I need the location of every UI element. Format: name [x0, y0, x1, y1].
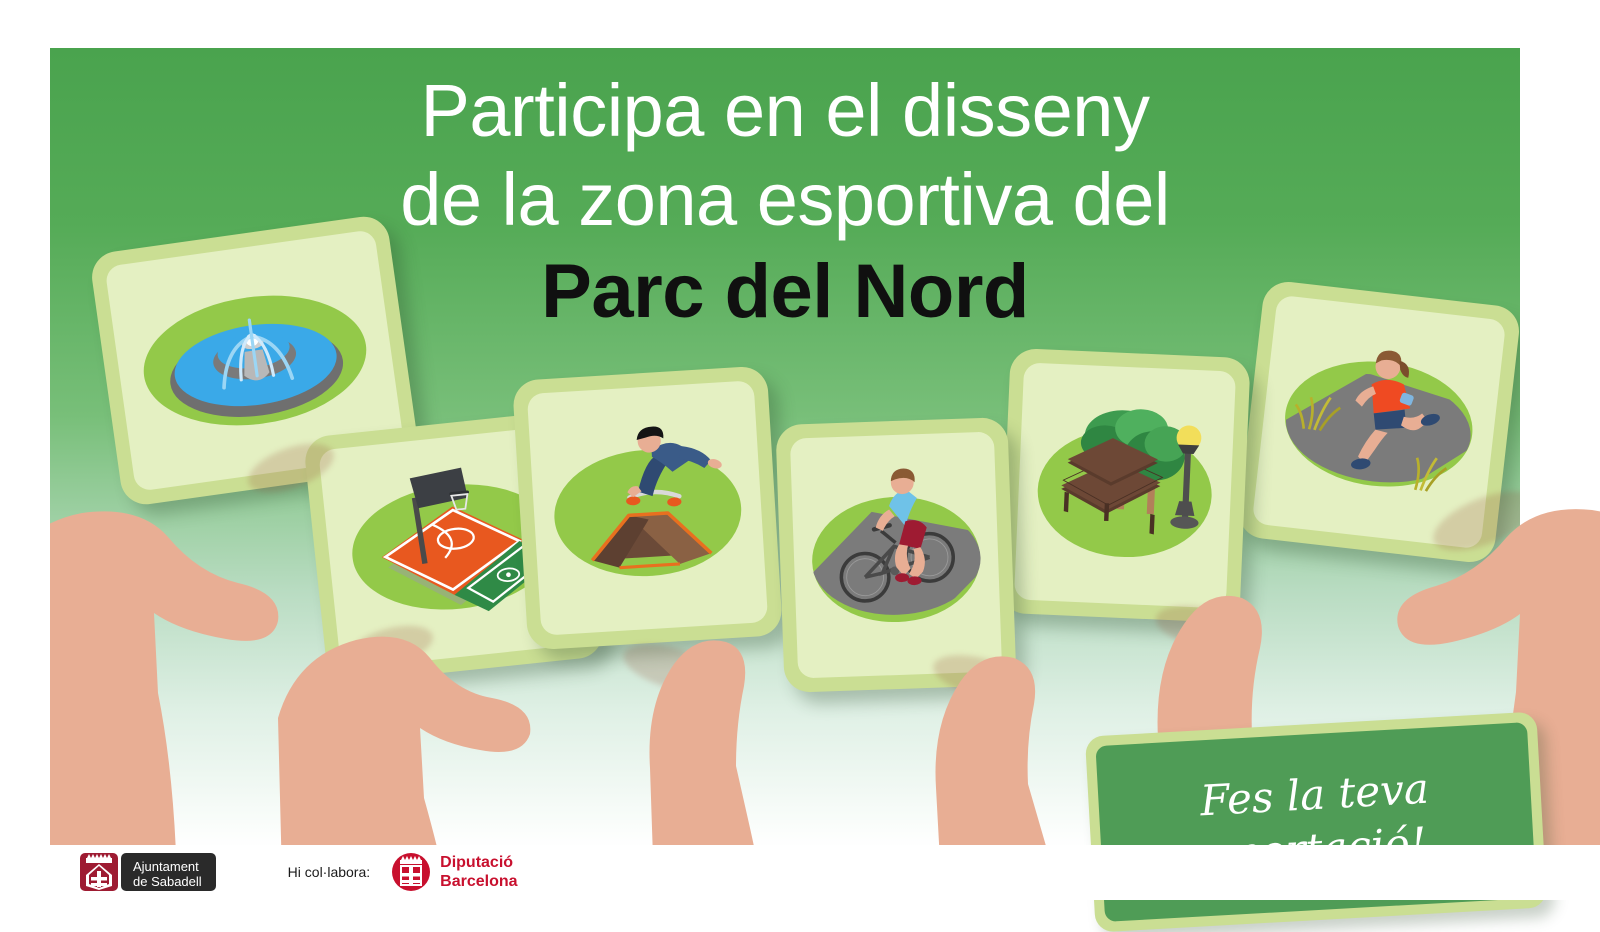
- collaborate-label: Hi col·labora:: [288, 864, 370, 880]
- sabadell-crest-icon: [80, 853, 118, 891]
- hand-left-2: [248, 548, 578, 848]
- footer-logos: Ajuntament de Sabadell Hi col·labora: Di…: [0, 845, 1600, 900]
- logo-row: Ajuntament de Sabadell Hi col·labora: Di…: [80, 853, 518, 891]
- diputacio-label: Diputació Barcelona: [440, 853, 517, 891]
- diputacio-line-2: Barcelona: [440, 872, 517, 891]
- campaign-banner: Participa en el disseny de la zona espor…: [50, 48, 1520, 848]
- headline-line-1: Participa en el disseny: [50, 66, 1520, 155]
- ajuntament-line-2: de Sabadell: [133, 874, 202, 889]
- hand-center-1: [550, 568, 880, 848]
- diputacio-crest-icon: [392, 853, 430, 891]
- ajuntament-line-1: Ajuntament: [133, 859, 202, 874]
- diputacio-line-1: Diputació: [440, 853, 517, 872]
- page-canvas: Participa en el disseny de la zona espor…: [0, 0, 1600, 900]
- ajuntament-label-box: Ajuntament de Sabadell: [121, 853, 216, 891]
